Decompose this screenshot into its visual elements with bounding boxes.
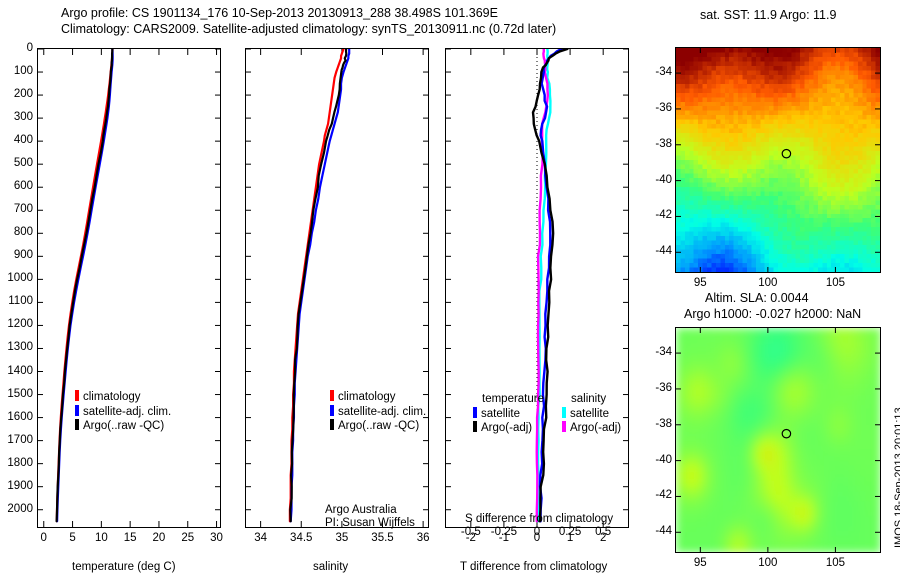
x-tick-label: 15	[124, 532, 137, 544]
main-title-line1: Argo profile: CS 1901134_176 10-Sep-2013…	[61, 6, 498, 20]
depth-tick-label: 400	[0, 134, 33, 146]
sla-map-title-line2: Argo h1000: -0.027 h2000: NaN	[684, 307, 861, 321]
depth-tick-label: 2000	[0, 503, 33, 515]
map-lat-label: -44	[642, 525, 672, 537]
color-swatch-icon	[75, 405, 79, 416]
map-lat-label: -38	[642, 138, 672, 150]
map-lat-label: -40	[642, 454, 672, 466]
legend-label: Argo(..raw -QC)	[338, 420, 419, 432]
legend-item: satellite	[473, 407, 544, 422]
depth-tick-label: 600	[0, 180, 33, 192]
color-swatch-icon	[330, 390, 334, 401]
salinity-legend: climatology satellite-adj. clim. Argo(..…	[330, 390, 426, 434]
x-tick-label: 36	[417, 532, 430, 544]
depth-tick-label: 1200	[0, 318, 33, 330]
x-tick-label: -0.5	[461, 526, 481, 538]
x-tick-label: 30	[210, 532, 223, 544]
color-swatch-icon	[562, 407, 566, 418]
difference-legend-salinity: salinity satellite Argo(-adj)	[562, 392, 621, 436]
legend-item: satellite-adj. clim.	[330, 405, 426, 420]
legend-item: satellite-adj. clim.	[75, 405, 171, 420]
map-lat-label: -34	[642, 346, 672, 358]
x-tick-label: 20	[153, 532, 166, 544]
legend-label: climatology	[338, 391, 396, 403]
depth-tick-label: 800	[0, 226, 33, 238]
depth-tick-label: 100	[0, 65, 33, 77]
sla-map-title-line1: Altim. SLA: 0.0044	[705, 291, 809, 305]
depth-tick-label: 1700	[0, 434, 33, 446]
legend-item: Argo(-adj)	[473, 421, 544, 436]
credit-pi: PI: Susan Wijffels	[325, 517, 415, 529]
legend-label: satellite-adj. clim.	[83, 406, 171, 418]
x-tick-label: 0.25	[559, 526, 581, 538]
temperature-axis-label: temperature (deg C)	[72, 561, 176, 573]
legend-label: Argo(..raw -QC)	[83, 420, 164, 432]
legend-item: Argo(-adj)	[562, 421, 621, 436]
legend-item: Argo(..raw -QC)	[75, 419, 171, 434]
temperature-plot[interactable]	[37, 48, 221, 528]
legend-label: climatology	[83, 391, 141, 403]
depth-tick-label: 1000	[0, 272, 33, 284]
depth-tick-label: 200	[0, 88, 33, 100]
depth-tick-label: 300	[0, 111, 33, 123]
depth-tick-label: 1900	[0, 480, 33, 492]
depth-tick-label: 1100	[0, 295, 33, 307]
sla-map-canvas	[676, 328, 880, 552]
color-swatch-icon	[330, 405, 334, 416]
color-swatch-icon	[330, 419, 334, 430]
difference-top-axis-label: S difference from climatology	[465, 513, 613, 525]
legend-label: Argo(-adj)	[570, 422, 621, 434]
legend-item: Argo(..raw -QC)	[330, 419, 426, 434]
map-lat-label: -44	[642, 245, 672, 257]
sst-map[interactable]	[675, 47, 881, 273]
x-tick-label: 0.5	[595, 526, 611, 538]
legend-item: satellite	[562, 407, 621, 422]
depth-tick-label: 1300	[0, 341, 33, 353]
map-lon-label: 100	[758, 557, 777, 569]
map-lon-label: 95	[694, 557, 707, 569]
map-lon-label: 105	[826, 277, 845, 289]
x-tick-label: 34	[254, 532, 267, 544]
depth-tick-label: 0	[0, 42, 33, 54]
depth-tick-label: 1600	[0, 411, 33, 423]
legend-label: Argo(-adj)	[481, 422, 532, 434]
salinity-axis-label: salinity	[313, 561, 348, 573]
x-tick-label: 0	[41, 532, 47, 544]
legend-label: satellite	[570, 408, 609, 420]
map-lat-label: -40	[642, 174, 672, 186]
depth-tick-label: 500	[0, 157, 33, 169]
color-swatch-icon	[75, 390, 79, 401]
sst-map-title: sat. SST: 11.9 Argo: 11.9	[700, 8, 836, 22]
map-lon-label: 95	[694, 277, 707, 289]
depth-tick-label: 1500	[0, 388, 33, 400]
salinity-plot-canvas	[246, 49, 428, 527]
difference-legend-temperature: temperature satellite Argo(-adj)	[473, 392, 544, 436]
map-lat-label: -38	[642, 418, 672, 430]
sla-map[interactable]	[675, 327, 881, 553]
x-tick-label: 5	[69, 532, 75, 544]
legend-header: temperature	[473, 392, 544, 407]
x-tick-label: 10	[95, 532, 108, 544]
map-lat-label: -36	[642, 382, 672, 394]
map-lon-label: 100	[758, 277, 777, 289]
map-lon-label: 105	[826, 557, 845, 569]
depth-tick-label: 1400	[0, 365, 33, 377]
legend-label: satellite-adj. clim.	[338, 406, 426, 418]
difference-bottom-axis-label: T difference from climatology	[460, 561, 607, 573]
color-swatch-icon	[473, 421, 477, 432]
main-title-line2: Climatology: CARS2009. Satellite-adjuste…	[61, 22, 556, 36]
color-swatch-icon	[562, 421, 566, 432]
depth-tick-label: 700	[0, 203, 33, 215]
salinity-plot[interactable]	[245, 48, 429, 528]
x-tick-label: 35	[335, 532, 348, 544]
depth-tick-label: 1800	[0, 457, 33, 469]
x-tick-label: 34.5	[290, 532, 312, 544]
map-lat-label: -36	[642, 102, 672, 114]
depth-tick-label: 900	[0, 249, 33, 261]
legend-item: climatology	[330, 390, 426, 405]
temperature-legend: climatology satellite-adj. clim. Argo(..…	[75, 390, 171, 434]
x-tick-label: 35.5	[371, 532, 393, 544]
color-swatch-icon	[473, 407, 477, 418]
map-lat-label: -42	[642, 209, 672, 221]
credit-org: Argo Australia	[325, 504, 397, 516]
x-tick-label: 25	[181, 532, 194, 544]
difference-plot[interactable]	[445, 48, 629, 528]
map-lat-label: -34	[642, 66, 672, 78]
x-tick-label: 0	[534, 526, 540, 538]
x-tick-label: -0.25	[491, 526, 517, 538]
map-lat-label: -42	[642, 489, 672, 501]
color-swatch-icon	[75, 419, 79, 430]
difference-plot-canvas	[446, 49, 628, 527]
legend-header: salinity	[562, 392, 621, 407]
legend-item: climatology	[75, 390, 171, 405]
sst-map-canvas	[676, 48, 880, 272]
temperature-plot-canvas	[38, 49, 220, 527]
legend-label: satellite	[481, 408, 520, 420]
imos-timestamp: IMOS 18-Sep-2013 20:01:13	[893, 407, 900, 548]
